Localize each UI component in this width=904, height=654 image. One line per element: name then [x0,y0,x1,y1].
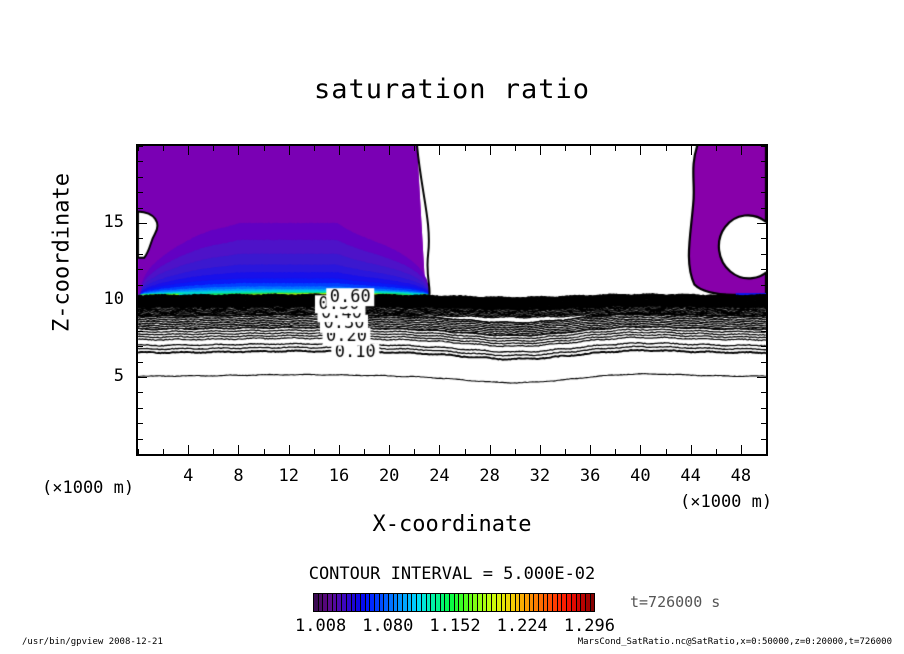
x-axis-title: X-coordinate [136,512,768,537]
colorbar-tick-label: 1.224 [497,616,548,636]
page-title: saturation ratio [0,74,904,105]
colorbar-tick-label: 1.008 [295,616,346,636]
x-tick-label: 20 [369,466,409,486]
colorbar-tick-label: 1.152 [429,616,480,636]
footer-source-label: MarsCond_SatRatio.nc@SatRatio,x=0:50000,… [578,637,892,647]
x-unit-left-label: (×1000 m) [42,478,134,498]
footer-command-label: /usr/bin/gpview 2008-12-21 [22,637,163,647]
x-tick-label: 8 [218,466,258,486]
x-tick-label: 16 [319,466,359,486]
x-tick-label: 44 [671,466,711,486]
colorbar-tick-labels: 1.0081.0801.1521.2241.296 [295,616,615,636]
contour-field-canvas [138,146,766,454]
x-tick-label: 28 [470,466,510,486]
colorbar-band [591,594,595,611]
colorbar [313,593,595,612]
x-tick-label: 40 [620,466,660,486]
x-tick-label: 24 [419,466,459,486]
x-tick-label: 48 [721,466,761,486]
y-tick-label: 10 [84,289,124,309]
x-tick-label: 36 [570,466,610,486]
x-tick-label: 4 [168,466,208,486]
time-label: t=726000 s [630,593,720,611]
contour-interval-caption: CONTOUR INTERVAL = 5.000E-02 [152,564,752,584]
y-tick-label: 5 [84,366,124,386]
x-unit-right-label: (×1000 m) [680,492,772,512]
y-axis-title: Z-coordinate [50,163,75,343]
y-tick-label: 15 [84,212,124,232]
colorbar-tick-label: 1.080 [362,616,413,636]
plot-area [136,144,768,456]
colorbar-tick-label: 1.296 [564,616,615,636]
x-tick-label: 12 [269,466,309,486]
x-tick-label: 32 [520,466,560,486]
